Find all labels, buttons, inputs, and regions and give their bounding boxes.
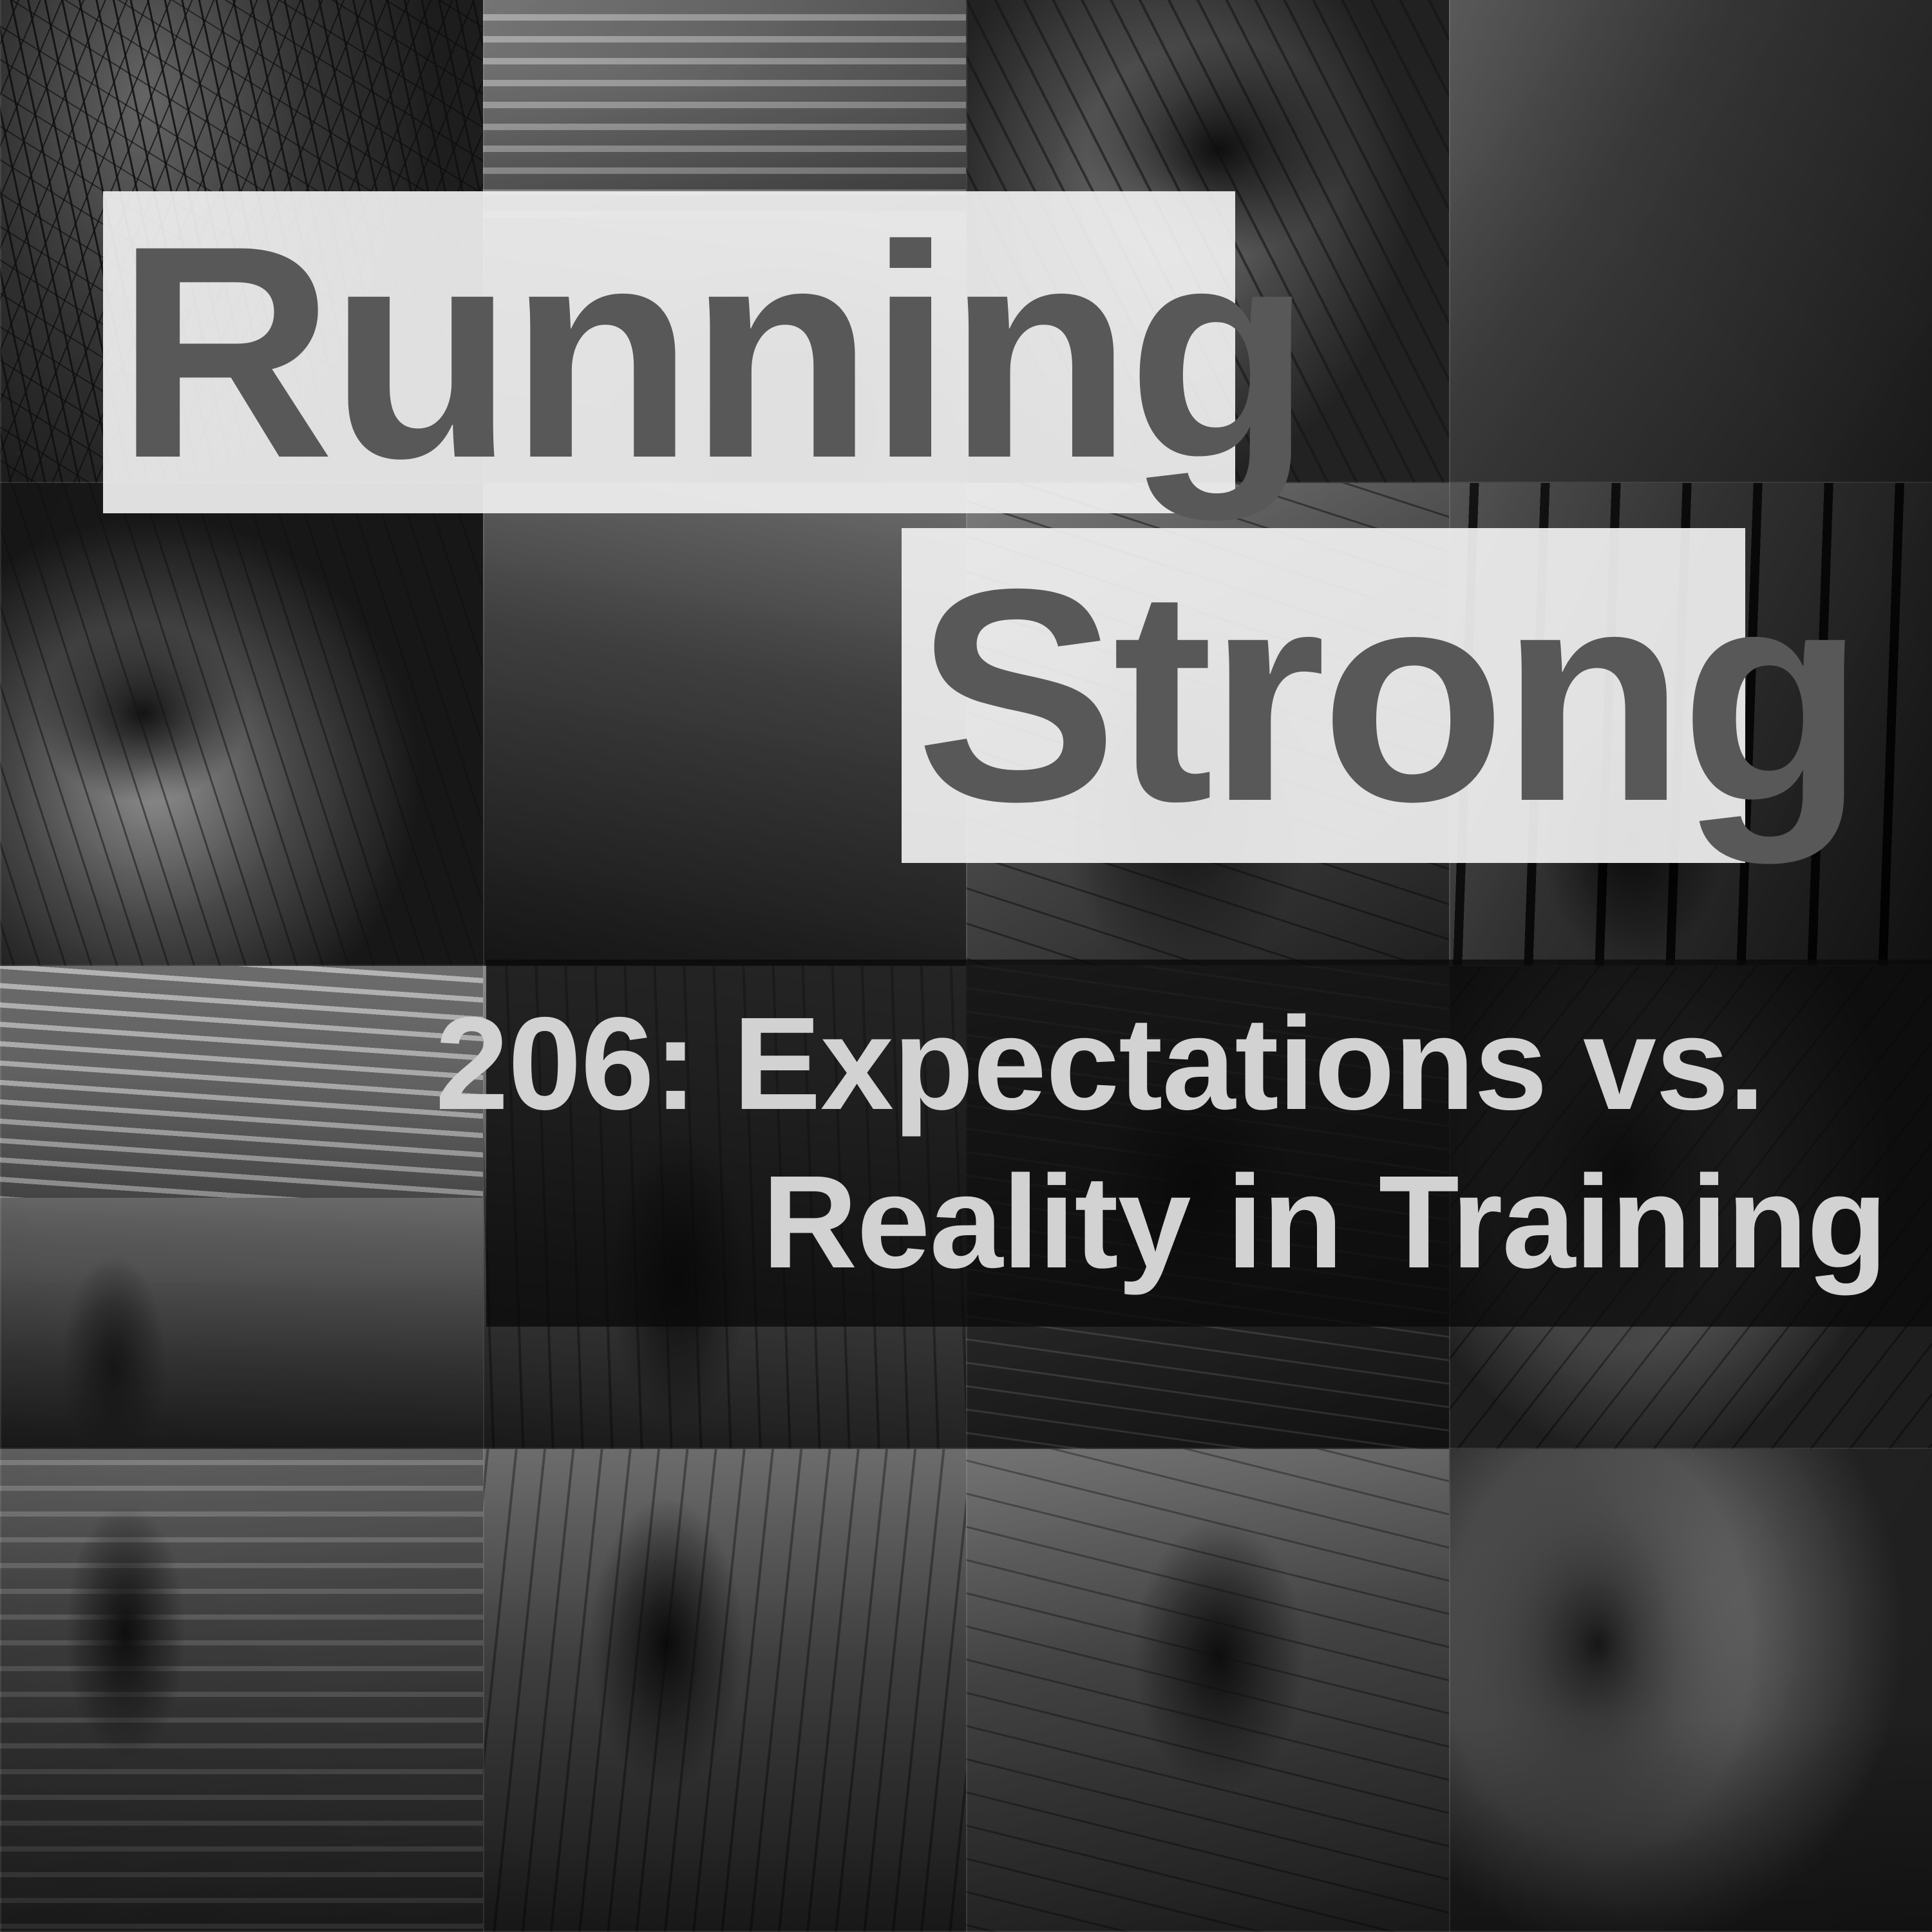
collage-tile-athlete-front-squat-in-rack: [1449, 0, 1932, 483]
brand-title-line-1: Running: [116, 213, 1307, 491]
collage-tile-man-in-tank-top-profile-outdoors: [1449, 1449, 1932, 1932]
episode-title-line-1: 206: Expectations vs.: [435, 987, 1765, 1141]
collage-tile-sled-push-in-gym: [483, 1449, 966, 1932]
episode-title-plate: 206: Expectations vs. Reality in Trainin…: [486, 960, 1932, 1327]
brand-plate-strong: Strong: [902, 528, 1745, 863]
collage-tile-deadlift-barbell-rogue-plates: [0, 1449, 483, 1932]
brand-plate-running: Running: [103, 191, 1235, 513]
episode-title-line-2: Reality in Training: [762, 1146, 1887, 1299]
collage-tile-hinge-with-barbell-on-platform: [966, 1449, 1449, 1932]
collage-tile-smiling-man-in-beanie-portrait: [0, 483, 483, 966]
collage-tile-dumbbell-step-up-on-box: [483, 483, 966, 966]
collage-tile-gym-ceiling-beams-wide: [0, 966, 483, 1449]
podcast-cover-art: Running Strong 206: Expectations vs. Rea…: [0, 0, 1932, 1932]
brand-title-line-2: Strong: [916, 556, 1860, 835]
